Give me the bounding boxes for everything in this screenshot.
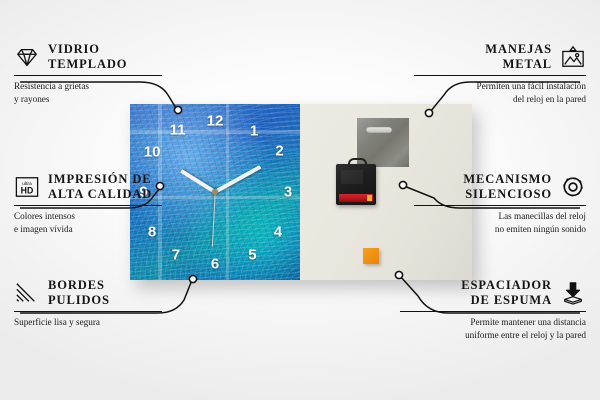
callout-title: BORDES PULIDOS — [48, 278, 110, 308]
callout-manejas-metal[interactable]: MANEJAS METAL Permiten una fácil instala… — [414, 42, 586, 105]
callout-header: MECANISMO SILENCIOSO — [414, 172, 586, 202]
callout-desc: Permiten una fácil instalación del reloj… — [414, 80, 586, 105]
callout-rule — [14, 311, 162, 313]
picture-frame-icon — [560, 45, 586, 69]
artwork-gridline — [130, 130, 300, 134]
callout-rule — [14, 205, 162, 207]
callout-title: MANEJAS METAL — [485, 42, 552, 72]
callout-bordes-pulidos[interactable]: BORDES PULIDOS Superficie lisa y segura — [14, 278, 162, 329]
clock-numeral-6: 6 — [211, 257, 219, 272]
callout-impresion-alta-calidad[interactable]: ultra HD IMPRESIÓN DE ALTA CALIDAD Color… — [14, 172, 162, 235]
callout-desc: Colores intensos e imagen vívida — [14, 210, 162, 235]
clock-numeral-12: 12 — [207, 114, 224, 129]
callout-header: MANEJAS METAL — [414, 42, 586, 72]
ultra-hd-icon: ultra HD — [14, 175, 40, 199]
callout-mecanismo-silencioso[interactable]: MECANISMO SILENCIOSO Las manecillas del … — [414, 172, 586, 235]
callout-desc: Superficie lisa y segura — [14, 316, 162, 328]
hanger-slot — [366, 127, 392, 133]
callout-title: VIDRIO TEMPLADO — [48, 42, 127, 72]
clock-numeral-4: 4 — [274, 225, 282, 240]
clock-numeral-2: 2 — [275, 144, 283, 159]
quartz-mechanism — [336, 164, 376, 205]
diamond-icon — [14, 45, 40, 69]
callout-header: ultra HD IMPRESIÓN DE ALTA CALIDAD — [14, 172, 162, 202]
callout-espaciador-espuma[interactable]: ESPACIADOR DE ESPUMA Permite mantener un… — [400, 278, 586, 341]
callout-header: BORDES PULIDOS — [14, 278, 162, 308]
clock-numeral-3: 3 — [284, 185, 292, 200]
infographic-canvas: 12 1 2 3 4 5 6 7 8 9 10 11 — [0, 0, 600, 400]
callout-desc: Permite mantener una distancia uniforme … — [400, 316, 586, 341]
callout-title: IMPRESIÓN DE ALTA CALIDAD — [48, 172, 152, 202]
callout-rule — [414, 205, 586, 207]
clock-numeral-10: 10 — [144, 144, 161, 159]
callout-title: MECANISMO SILENCIOSO — [463, 172, 552, 202]
callout-desc: Resistencia a grietas y rayones — [14, 80, 162, 105]
ultra-hd-icon-bottom: HD — [21, 185, 34, 195]
callout-header: VIDRIO TEMPLADO — [14, 42, 162, 72]
battery-terminal — [367, 195, 372, 201]
callout-title: ESPACIADOR DE ESPUMA — [461, 278, 552, 308]
clock-numeral-1: 1 — [250, 124, 258, 139]
clock-numeral-5: 5 — [248, 248, 256, 263]
clock-hand-cap — [212, 189, 218, 195]
gear-icon — [560, 175, 586, 199]
mechanism-detail — [341, 170, 363, 184]
polished-edge-icon — [14, 281, 40, 305]
callout-rule — [400, 311, 586, 313]
battery — [339, 194, 373, 202]
foam-spacer — [363, 248, 379, 264]
foam-spacer-icon — [560, 281, 586, 305]
callout-rule — [14, 75, 162, 77]
callout-rule — [414, 75, 586, 77]
callout-header: ESPACIADOR DE ESPUMA — [400, 278, 586, 308]
callout-desc: Las manecillas del reloj no emiten ningú… — [414, 210, 586, 235]
clock-numeral-7: 7 — [172, 248, 180, 263]
clock-numeral-11: 11 — [170, 123, 186, 138]
mechanism-hanger-loop — [348, 158, 367, 169]
callout-vidrio-templado[interactable]: VIDRIO TEMPLADO Resistencia a grietas y … — [14, 42, 162, 105]
